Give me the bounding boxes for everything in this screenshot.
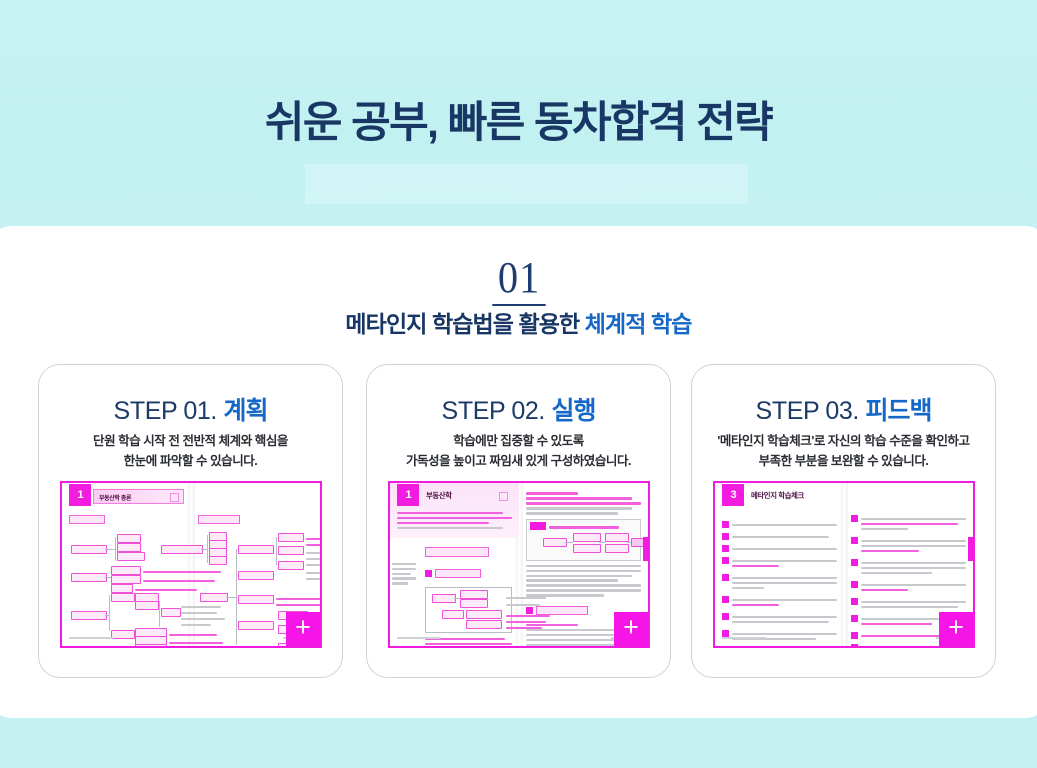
step-card-2[interactable]: STEP 02. 실행 학습에만 집중할 수 있도록 가독성을 높이고 짜임새 …	[366, 364, 671, 678]
checklist-item	[722, 533, 837, 541]
step-card-2-title-accent: 실행	[551, 397, 595, 425]
book-chapter-number: 1	[69, 484, 91, 506]
book-chapter-number: 3	[722, 484, 744, 506]
step-card-2-title: STEP 02. 실행	[367, 391, 670, 427]
expand-plus-icon[interactable]: +	[286, 612, 320, 646]
page-title: 쉬운 공부, 빠른 동차합격 전략	[0, 100, 1037, 147]
step-card-3-title-accent: 피드백	[865, 397, 931, 425]
book-header: 3 메타인지 학습체크	[722, 489, 837, 506]
step-card-3-description: '메타인지 학습체크'로 자신의 학습 수준을 확인하고 부족한 부분을 보완할…	[700, 431, 987, 472]
book-header-title: 부동산학	[426, 490, 452, 500]
book-footer	[69, 637, 184, 641]
book-footer	[397, 637, 512, 641]
book-header-bar: 메타인지 학습체크	[746, 489, 837, 504]
book-header-square-icon	[170, 493, 179, 502]
checklist-item	[851, 515, 966, 533]
book-preview-2[interactable]: 1 부동산학	[388, 481, 650, 648]
hero-decor-box	[305, 164, 748, 204]
book-side-tab	[643, 537, 648, 561]
section-heading-accent: 체계적 학습	[585, 311, 692, 337]
checklist-item	[722, 647, 837, 648]
checklist-item	[722, 557, 837, 570]
book-side-tab	[968, 537, 973, 561]
book-header-bar: 부동산학 총론	[93, 489, 184, 504]
section-heading: 메타인지 학습법을 활용한 체계적 학습	[0, 305, 1037, 339]
book-header: 1 부동산학 총론	[69, 489, 184, 506]
step-card-2-description: 학습에만 집중할 수 있도록 가독성을 높이고 짜임새 있게 구성하였습니다.	[375, 431, 662, 472]
checklist-item	[851, 537, 966, 555]
book-header: 1 부동산학	[397, 489, 512, 506]
checklist-item	[851, 598, 966, 611]
step-card-1-title: STEP 01. 계획	[39, 391, 342, 427]
step-card-1-title-prefix: STEP 01.	[114, 397, 224, 425]
book-section-tag-right	[198, 511, 313, 529]
section-number: 01	[0, 256, 1037, 306]
checklist-item	[722, 521, 837, 529]
book-chapter-number: 1	[397, 484, 419, 506]
book-preview-1[interactable]: 1 부동산학 총론	[60, 481, 322, 648]
step-card-2-title-prefix: STEP 02.	[442, 397, 552, 425]
hero-banner: 쉬운 공부, 빠른 동차합격 전략	[0, 0, 1037, 226]
step-card-3-title-prefix: STEP 03.	[756, 397, 866, 425]
expand-plus-icon[interactable]: +	[614, 612, 648, 646]
checklist-item	[722, 613, 837, 626]
book-page-left: 1 부동산학 총론	[62, 483, 191, 646]
book-header-title: 부동산학 총론	[99, 492, 131, 501]
section-number-text: 01	[492, 256, 545, 306]
expand-plus-icon[interactable]: +	[939, 612, 973, 646]
checklist-item	[722, 545, 837, 553]
content-panel: 01 메타인지 학습법을 활용한 체계적 학습 STEP 01. 계획 단원 학…	[0, 226, 1037, 718]
step-card-list: STEP 01. 계획 단원 학습 시작 전 전반적 체계와 핵심을 한눈에 파…	[0, 364, 1037, 684]
step-card-1-title-accent: 계획	[223, 397, 267, 425]
step-card-1-description: 단원 학습 시작 전 전반적 체계와 핵심을 한눈에 파악할 수 있습니다.	[47, 431, 334, 472]
step-card-3-title: STEP 03. 피드백	[692, 391, 995, 427]
section-heading-main: 메타인지 학습법을 활용한	[345, 311, 584, 337]
step-card-1[interactable]: STEP 01. 계획 단원 학습 시작 전 전반적 체계와 핵심을 한눈에 파…	[38, 364, 343, 678]
book-preview-3[interactable]: 3 메타인지 학습체크	[713, 481, 975, 648]
book-page-left: 3 메타인지 학습체크	[715, 483, 844, 646]
step-card-3[interactable]: STEP 03. 피드백 '메타인지 학습체크'로 자신의 학습 수준을 확인하…	[691, 364, 996, 678]
checklist-item	[722, 596, 837, 609]
book-footer	[722, 637, 837, 641]
book-section-tag	[69, 511, 184, 529]
checklist-item	[851, 559, 966, 577]
checklist-item	[722, 574, 837, 592]
book-header-square-icon	[499, 492, 508, 501]
book-header-bar: 부동산학	[421, 489, 512, 504]
checklist-item	[851, 581, 966, 594]
book-mindmap	[69, 533, 184, 648]
book-page-left: 1 부동산학	[390, 483, 519, 646]
book-header-title: 메타인지 학습체크	[751, 490, 804, 500]
